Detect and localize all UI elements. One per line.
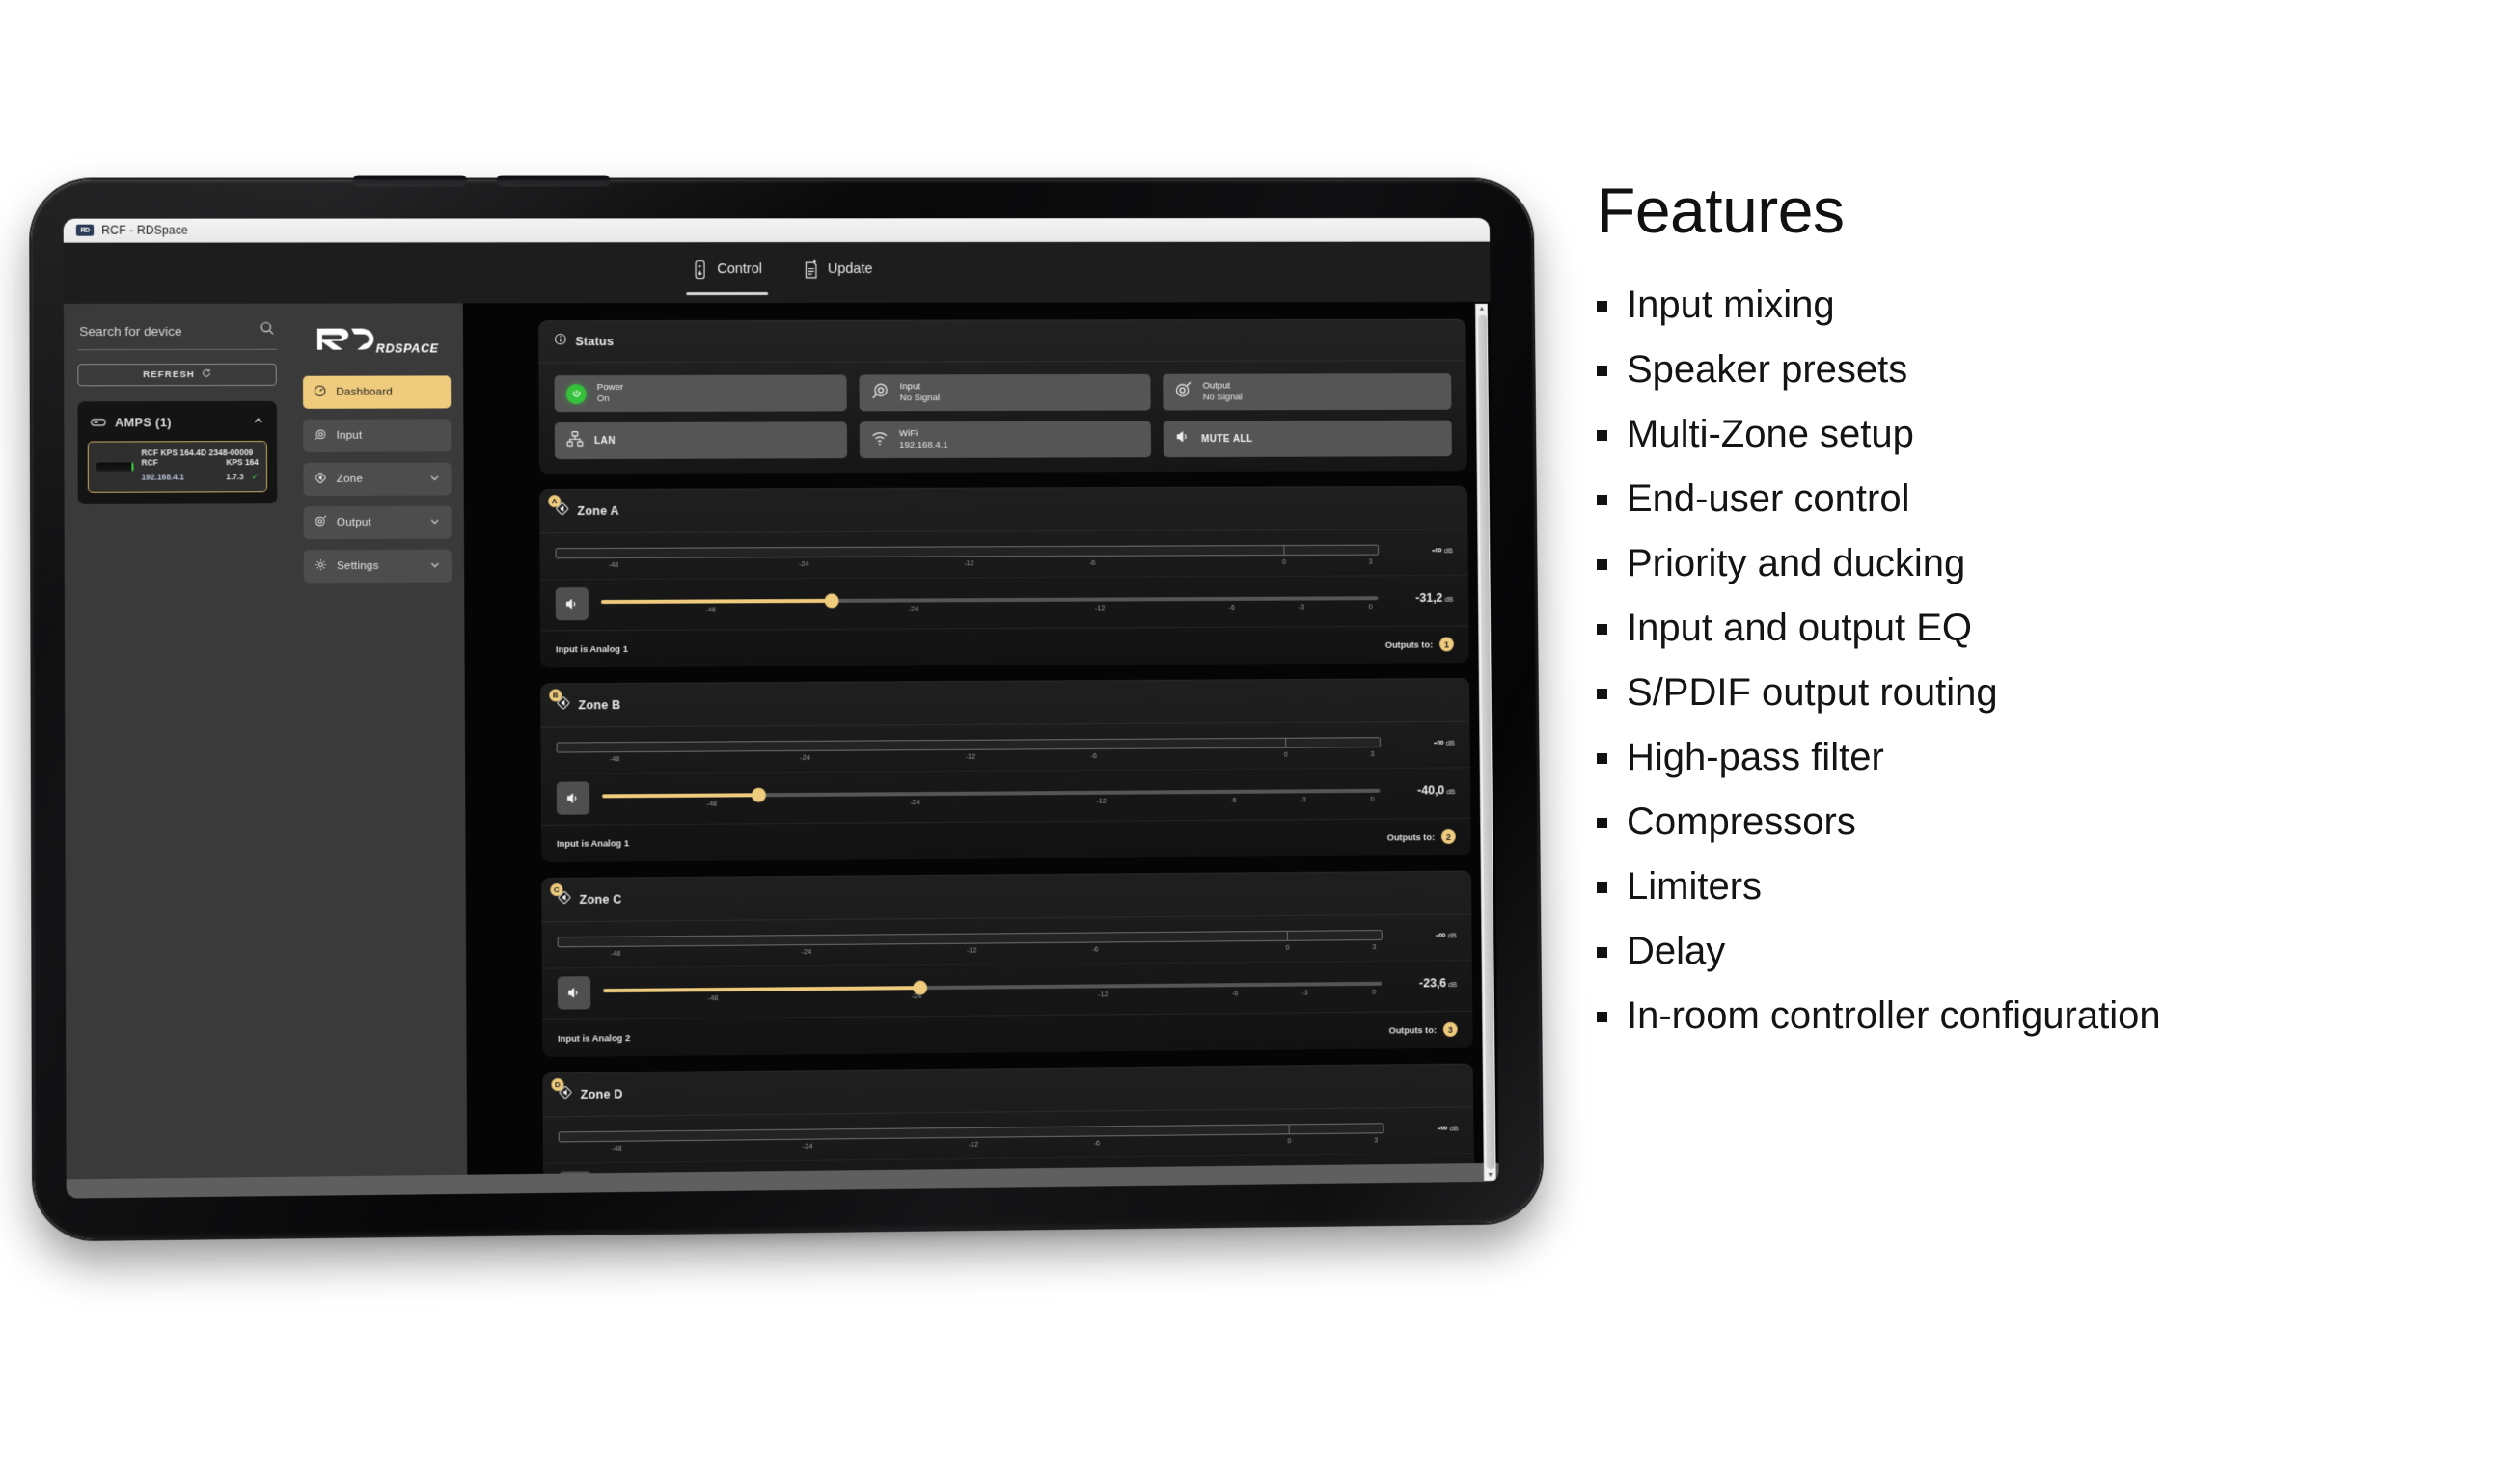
check-icon: ✓ bbox=[251, 472, 259, 481]
zone-badge: C bbox=[550, 883, 562, 896]
fader-scale-tick: 0 bbox=[1370, 795, 1374, 803]
sidebar-item-settings[interactable]: Settings bbox=[304, 550, 452, 584]
feature-item-label: Input mixing bbox=[1627, 285, 1835, 324]
zone-outputs: Outputs to: 2 bbox=[1387, 829, 1456, 844]
sidebar-item-input-label: Input bbox=[337, 429, 441, 441]
slide-root: RD RCF - RDSpace Control bbox=[0, 0, 2520, 1466]
gain-value-unit: dB bbox=[1448, 980, 1457, 989]
sidebar-item-zone-label: Zone bbox=[337, 474, 420, 485]
bullet-icon bbox=[1597, 818, 1607, 828]
feature-item-label: Delay bbox=[1627, 932, 1725, 970]
main-navigation-sidebar: RDSPACE Dashboard bbox=[290, 303, 468, 1196]
status-tile-output[interactable]: Output No Signal bbox=[1163, 373, 1452, 410]
meter-value-text: -∞ bbox=[1438, 1123, 1448, 1134]
features-section: Features Input mixingSpeaker presetsMult… bbox=[1597, 174, 2484, 1061]
zones-container: A Zone A -48-24-12-603 -∞dB bbox=[539, 486, 1474, 1194]
feature-item: Speaker presets bbox=[1597, 350, 2484, 389]
chevron-down-icon[interactable] bbox=[428, 472, 440, 486]
meter-value-unit: dB bbox=[1444, 546, 1453, 555]
zone-gain-slider[interactable]: -48-24-12-6-30 bbox=[603, 975, 1382, 1007]
meter-value-text: -∞ bbox=[1436, 929, 1446, 940]
zone-footer: Input is Analog 1 Outputs to: 2 bbox=[541, 819, 1471, 862]
sidebar-item-zone[interactable]: Zone bbox=[303, 462, 451, 496]
meter-scale-tick: -12 bbox=[967, 946, 977, 955]
zone-footer: Input is Analog 1 Outputs to: 1 bbox=[540, 626, 1469, 667]
rcf-logo-icon: RD bbox=[76, 225, 94, 236]
output-icon bbox=[315, 515, 327, 530]
zone-outputs-label: Outputs to: bbox=[1387, 832, 1436, 842]
gain-value-text: -23,6 bbox=[1419, 976, 1446, 990]
zone-fader-row: -48-24-12-6-30 -23,6dB bbox=[542, 961, 1473, 1020]
meter-scale-tick: 3 bbox=[1369, 557, 1373, 566]
feature-item: Input and output EQ bbox=[1597, 609, 2484, 647]
zone-fader-row: -48-24-12-6-30 -31,2dB bbox=[540, 576, 1469, 631]
tablet-button-1 bbox=[353, 176, 468, 187]
device-serial: RCF KPS 164.4D 2348-00009 bbox=[141, 448, 253, 457]
zone-meter-value: -∞dB bbox=[1390, 544, 1453, 556]
features-heading: Features bbox=[1597, 174, 2484, 247]
fader-scale-tick: -48 bbox=[705, 605, 716, 613]
zone-level-meter: -48-24-12-603 bbox=[558, 930, 1383, 962]
fader-scale-tick: -3 bbox=[1300, 795, 1306, 803]
sidebar-item-output[interactable]: Output bbox=[304, 506, 452, 540]
feature-item: High-pass filter bbox=[1597, 738, 2484, 776]
zone-badge: A bbox=[548, 495, 561, 507]
zone-gain-slider[interactable]: -48-24-12-6-30 bbox=[602, 782, 1381, 813]
zone-meter-row: -48-24-12-603 -∞dB bbox=[540, 722, 1469, 774]
refresh-button[interactable]: REFRESH bbox=[77, 364, 276, 387]
fader-scale-tick: 0 bbox=[1372, 988, 1376, 996]
gain-value-text: -31,2 bbox=[1415, 591, 1442, 605]
zone-badge: B bbox=[549, 689, 562, 701]
zone-input-label: Input is Analog 1 bbox=[557, 838, 629, 849]
zone-badge: D bbox=[551, 1078, 563, 1091]
meter-scale-tick: -24 bbox=[803, 1142, 813, 1151]
zone-input-label: Input is Analog 2 bbox=[558, 1033, 630, 1044]
zone-level-meter: -48-24-12-603 bbox=[559, 1123, 1384, 1156]
zone-outputs-label: Outputs to: bbox=[1388, 1025, 1437, 1035]
bullet-icon bbox=[1597, 430, 1607, 441]
feature-item-label: S/PDIF output routing bbox=[1627, 673, 1998, 712]
gauge-icon bbox=[314, 385, 326, 400]
zone-meter-row: -48-24-12-603 -∞dB bbox=[539, 529, 1468, 580]
zone-header: C Zone C bbox=[541, 871, 1471, 923]
fader-scale-tick: -12 bbox=[1096, 797, 1107, 805]
wifi-icon bbox=[871, 429, 889, 451]
meter-scale-tick: -6 bbox=[1090, 751, 1097, 760]
main-content: Status bbox=[463, 302, 1499, 1194]
meter-scale-tick: -48 bbox=[612, 1144, 622, 1153]
fader-scale-tick: -48 bbox=[706, 800, 717, 808]
amps-group-header[interactable]: AMPS (1) bbox=[88, 412, 267, 442]
zone-gain-value: -31,2dB bbox=[1390, 589, 1453, 605]
bullet-icon bbox=[1597, 689, 1607, 699]
fader-scale: -48-24-12-6-30 bbox=[601, 602, 1379, 618]
gain-value-unit: dB bbox=[1444, 595, 1453, 604]
sidebar-item-output-label: Output bbox=[337, 517, 420, 529]
status-tile-wifi[interactable]: WiFi 192.168.4.1 bbox=[860, 421, 1151, 458]
sidebar-item-dashboard[interactable]: Dashboard bbox=[303, 375, 451, 408]
fader-scale-tick: -12 bbox=[1098, 990, 1109, 998]
device-model: KPS 164 bbox=[226, 457, 259, 467]
status-tile-input[interactable]: Input No Signal bbox=[860, 374, 1151, 412]
status-tile-grid: Power On bbox=[538, 361, 1466, 474]
zone-level-meter: -48-24-12-603 bbox=[555, 545, 1379, 574]
feature-item: Input mixing bbox=[1597, 285, 2484, 324]
gain-value-text: -40,0 bbox=[1417, 783, 1444, 797]
bullet-icon bbox=[1597, 495, 1607, 505]
feature-item-label: Compressors bbox=[1627, 802, 1856, 841]
power-icon bbox=[566, 384, 587, 404]
device-thumbnail-icon bbox=[96, 462, 134, 471]
status-panel-header: Status bbox=[538, 319, 1466, 364]
zone-panel: B Zone B -48-24-12-603 -∞dB bbox=[540, 678, 1471, 862]
fader-scale-tick: -24 bbox=[910, 798, 920, 806]
zone-icon bbox=[314, 472, 326, 487]
tab-update-label: Update bbox=[828, 261, 873, 277]
tablet-button-2 bbox=[496, 176, 610, 187]
chevron-up-icon[interactable] bbox=[253, 414, 264, 431]
bullet-icon bbox=[1597, 882, 1607, 893]
zone-title: Zone D bbox=[581, 1087, 623, 1101]
meter-scale-tick: -48 bbox=[608, 560, 618, 569]
sidebar-item-input[interactable]: Input bbox=[303, 419, 451, 452]
meter-value-unit: dB bbox=[1448, 931, 1457, 939]
meter-scale-tick: -6 bbox=[1092, 944, 1099, 953]
status-power-label: Power bbox=[597, 382, 623, 394]
meter-scale: -48-24-12-603 bbox=[556, 557, 1380, 574]
chevron-down-icon[interactable] bbox=[429, 558, 441, 573]
status-tile-lan[interactable]: LAN bbox=[555, 421, 848, 459]
sidebar-item-dashboard-label: Dashboard bbox=[336, 386, 440, 397]
zone-output-badge: 2 bbox=[1441, 829, 1456, 844]
status-wifi-label: WiFi bbox=[899, 428, 948, 440]
meter-scale-tick: 0 bbox=[1287, 1136, 1291, 1145]
fader-scale: -48-24-12-6-30 bbox=[602, 795, 1380, 813]
dashboard-scroll-area: Status bbox=[463, 302, 1499, 1194]
device-metadata: RCF KPS 164.4D 2348-00009 RCF KPS 164 19… bbox=[141, 448, 259, 485]
amps-group-label: AMPS (1) bbox=[115, 416, 244, 429]
info-icon bbox=[554, 333, 566, 350]
feature-item: Limiters bbox=[1597, 867, 2484, 906]
meter-scale-tick: 0 bbox=[1284, 750, 1288, 759]
zone-panel: A Zone A -48-24-12-603 -∞dB bbox=[539, 486, 1469, 668]
fader-scale-tick: -6 bbox=[1228, 603, 1235, 611]
feature-item: Multi-Zone setup bbox=[1597, 415, 2484, 453]
meter-scale-tick: 3 bbox=[1374, 1135, 1378, 1144]
input-jack-icon bbox=[314, 428, 326, 444]
bullet-icon bbox=[1597, 624, 1607, 635]
device-ip: 192.168.4.1 bbox=[142, 472, 184, 481]
fader-scale-tick: -3 bbox=[1298, 603, 1304, 611]
meter-scale-tick: -48 bbox=[611, 949, 621, 958]
device-brand: RCF bbox=[142, 457, 158, 467]
status-lan-label: LAN bbox=[594, 435, 616, 446]
mute-all-button[interactable]: MUTE ALL bbox=[1163, 421, 1452, 458]
bullet-icon bbox=[1597, 559, 1607, 570]
zone-title: Zone C bbox=[580, 893, 622, 907]
zone-meter-value: -∞dB bbox=[1394, 929, 1457, 940]
tab-update[interactable]: Update bbox=[797, 255, 879, 291]
meter-scale-tick: 3 bbox=[1372, 942, 1376, 951]
gear-icon bbox=[315, 558, 327, 574]
scroll-up-arrow-icon[interactable]: ▲ bbox=[1478, 304, 1485, 314]
status-output-label: Output bbox=[1203, 381, 1243, 393]
meter-scale-tick: -12 bbox=[965, 752, 975, 761]
device-discovery-panel: Search for device REFRESH bbox=[64, 304, 293, 1199]
zone-mute-button[interactable] bbox=[556, 587, 589, 620]
fader-scale-tick: 0 bbox=[1369, 602, 1373, 611]
amps-group-card: AMPS (1) bbox=[77, 401, 277, 504]
features-list: Input mixingSpeaker presetsMulti-Zone se… bbox=[1597, 285, 2484, 1035]
zone-title: Zone B bbox=[578, 698, 620, 712]
feature-item: Delay bbox=[1597, 932, 2484, 970]
zone-header: A Zone A bbox=[539, 486, 1467, 533]
zone-gain-value: -23,6dB bbox=[1394, 974, 1457, 991]
status-tile-power[interactable]: Power On bbox=[555, 375, 848, 413]
feature-item: S/PDIF output routing bbox=[1597, 673, 2484, 712]
zone-outputs: Outputs to: 1 bbox=[1385, 637, 1454, 651]
feature-item-label: Speaker presets bbox=[1627, 350, 1907, 389]
meter-value-unit: dB bbox=[1450, 1124, 1459, 1132]
status-panel-title: Status bbox=[575, 335, 614, 348]
status-output-value: No Signal bbox=[1203, 392, 1243, 403]
search-input[interactable]: Search for device bbox=[77, 319, 276, 350]
meter-scale-tick: -24 bbox=[800, 753, 810, 762]
tab-control[interactable]: Control bbox=[686, 255, 768, 291]
meter-scale-tick: -48 bbox=[610, 754, 620, 763]
input-jack-icon bbox=[871, 381, 890, 404]
window-title: RCF - RDSpace bbox=[101, 224, 188, 237]
fader-scale-tick: -48 bbox=[708, 993, 719, 1002]
meter-bar bbox=[555, 545, 1379, 559]
status-input-value: No Signal bbox=[900, 393, 940, 404]
feature-item-label: High-pass filter bbox=[1627, 738, 1884, 776]
feature-item: Priority and ducking bbox=[1597, 544, 2484, 583]
app-window: RD RCF - RDSpace Control bbox=[64, 218, 1499, 1199]
zone-outputs-label: Outputs to: bbox=[1385, 639, 1433, 649]
meter-scale-tick: -6 bbox=[1089, 558, 1096, 567]
meter-scale: -48-24-12-603 bbox=[557, 749, 1381, 768]
gain-value-unit: dB bbox=[1446, 787, 1455, 796]
scroll-down-arrow-icon[interactable]: ▼ bbox=[1487, 1170, 1493, 1181]
tab-control-label: Control bbox=[717, 261, 762, 277]
feature-item: End-user control bbox=[1597, 479, 2484, 518]
feature-item-label: Priority and ducking bbox=[1627, 544, 1965, 583]
remote-control-icon bbox=[692, 259, 708, 280]
sidebar-item-settings-label: Settings bbox=[337, 560, 420, 572]
app-body: Search for device REFRESH bbox=[64, 302, 1499, 1199]
zone-input-label: Input is Analog 1 bbox=[556, 643, 628, 653]
meter-scale-tick: -6 bbox=[1094, 1138, 1101, 1147]
rdspace-logo: RDSPACE bbox=[303, 320, 451, 375]
zone-title: Zone A bbox=[577, 504, 619, 518]
fader-scale-tick: -24 bbox=[909, 604, 919, 612]
window-titlebar: RD RCF - RDSpace bbox=[64, 218, 1490, 243]
zone-meter-value: -∞dB bbox=[1392, 737, 1455, 748]
feature-item-label: Multi-Zone setup bbox=[1627, 415, 1914, 453]
output-icon bbox=[1174, 381, 1192, 404]
chevron-down-icon[interactable] bbox=[429, 515, 441, 529]
feature-item: In-room controller configuration bbox=[1597, 996, 2484, 1035]
rdspace-wordmark: RDSPACE bbox=[376, 341, 439, 355]
meter-scale-tick: 0 bbox=[1282, 557, 1286, 566]
fader-scale-tick: -24 bbox=[911, 991, 921, 1000]
refresh-icon bbox=[202, 368, 211, 381]
fader-scale-tick: -3 bbox=[1301, 988, 1308, 996]
status-input-label: Input bbox=[900, 382, 940, 394]
device-firmware: 1.7.3 bbox=[226, 472, 244, 481]
bullet-icon bbox=[1597, 947, 1607, 958]
fader-scale-tick: -6 bbox=[1230, 796, 1237, 804]
lan-icon bbox=[566, 430, 584, 452]
zone-output-badge: 1 bbox=[1439, 637, 1454, 651]
zone-panel: C Zone C -48-24-12-603 -∞dB bbox=[541, 871, 1472, 1057]
zone-gain-slider[interactable]: -48-24-12-6-30 bbox=[601, 589, 1379, 618]
bullet-icon bbox=[1597, 301, 1607, 312]
amp-device-icon bbox=[91, 414, 106, 431]
refresh-label: REFRESH bbox=[143, 369, 195, 380]
zone-meter-value: -∞dB bbox=[1395, 1122, 1458, 1134]
document-update-icon bbox=[803, 259, 819, 280]
bullet-icon bbox=[1597, 366, 1607, 376]
meter-value-text: -∞ bbox=[1434, 737, 1444, 748]
zone-meter-row: -48-24-12-603 -∞dB bbox=[541, 914, 1471, 968]
bullet-icon bbox=[1597, 753, 1607, 764]
meter-scale-tick: -12 bbox=[968, 1140, 978, 1149]
device-list-item[interactable]: RCF KPS 164.4D 2348-00009 RCF KPS 164 19… bbox=[88, 441, 267, 493]
feature-item: Compressors bbox=[1597, 802, 2484, 841]
zone-footer: Input is Analog 2 Outputs to: 3 bbox=[542, 1012, 1473, 1057]
feature-item-label: In-room controller configuration bbox=[1627, 996, 2161, 1035]
fader-scale-tick: -12 bbox=[1095, 604, 1106, 612]
bullet-icon bbox=[1597, 1012, 1607, 1022]
feature-item-label: End-user control bbox=[1627, 479, 1909, 518]
zone-level-meter: -48-24-12-603 bbox=[557, 737, 1382, 767]
meter-scale-tick: -12 bbox=[964, 558, 974, 567]
meter-scale-tick: -24 bbox=[802, 947, 812, 956]
top-navigation: Control Update bbox=[64, 242, 1491, 304]
zone-mute-button[interactable] bbox=[558, 976, 590, 1009]
rd-mark-icon bbox=[315, 327, 375, 357]
feature-item-label: Limiters bbox=[1627, 867, 1762, 906]
tablet-screen: RD RCF - RDSpace Control bbox=[64, 218, 1499, 1199]
zone-fader-row: -48-24-12-6-30 -40,0dB bbox=[541, 768, 1471, 826]
feature-item-label: Input and output EQ bbox=[1627, 609, 1972, 647]
meter-scale-tick: -24 bbox=[799, 559, 809, 568]
zone-header: B Zone B bbox=[540, 678, 1469, 728]
meter-value-unit: dB bbox=[1446, 739, 1455, 747]
speaker-icon bbox=[1174, 428, 1191, 449]
status-power-value: On bbox=[597, 394, 623, 405]
tablet-device: RD RCF - RDSpace Control bbox=[31, 179, 1543, 1279]
fader-fill bbox=[601, 599, 832, 604]
zone-mute-button[interactable] bbox=[557, 781, 589, 814]
search-icon bbox=[260, 321, 274, 340]
zone-gain-value: -40,0dB bbox=[1392, 781, 1455, 797]
meter-scale-tick: 0 bbox=[1285, 943, 1289, 952]
zone-output-badge: 3 bbox=[1443, 1022, 1458, 1037]
search-placeholder: Search for device bbox=[79, 323, 181, 338]
zone-outputs: Outputs to: 3 bbox=[1388, 1022, 1457, 1038]
meter-scale-tick: 3 bbox=[1370, 749, 1374, 758]
mute-all-label: MUTE ALL bbox=[1201, 434, 1253, 445]
fader-fill bbox=[602, 793, 758, 798]
fader-scale-tick: -6 bbox=[1232, 989, 1239, 997]
meter-value-text: -∞ bbox=[1432, 544, 1442, 556]
status-wifi-value: 192.168.4.1 bbox=[899, 440, 948, 451]
status-panel: Status bbox=[538, 319, 1467, 474]
